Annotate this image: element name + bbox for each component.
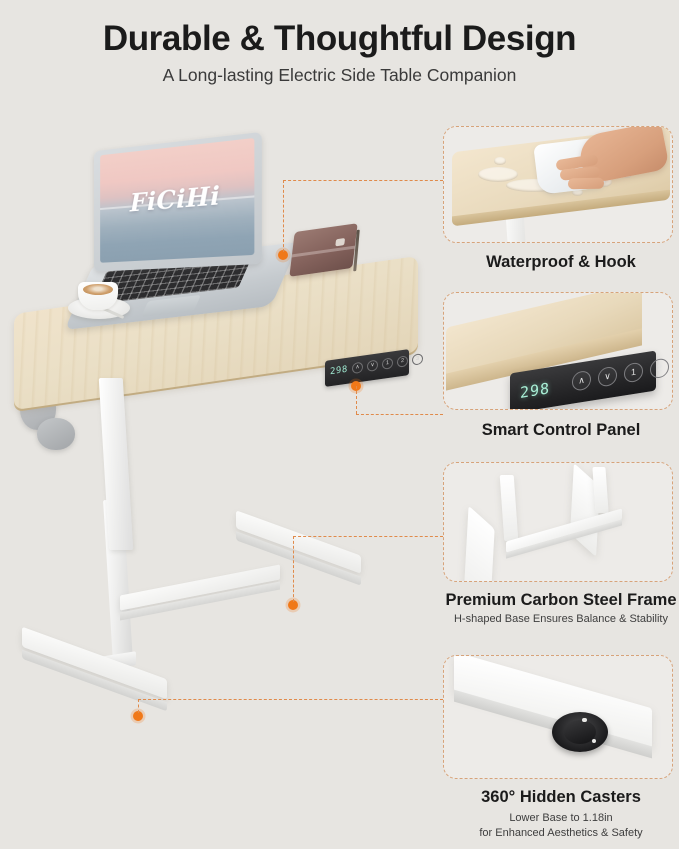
control-button-up[interactable]: ∧ [352, 362, 363, 375]
finger [568, 178, 604, 190]
casters-image-frame [443, 655, 673, 779]
callout-line-casters-horizontal [138, 699, 443, 700]
product-photo-main: FiCiHi 298 ∧ ∨ 1 2 3 [0, 120, 430, 849]
headphones-earcup-right [37, 418, 75, 450]
casters-subcaption-line1: Lower Base to 1.18in [443, 811, 679, 825]
caster-highlight [582, 718, 587, 722]
page-subtitle: A Long-lasting Electric Side Table Compa… [0, 63, 679, 87]
callout-line-control-vertical [356, 386, 357, 414]
control-button-preset-3[interactable]: 3 [412, 353, 423, 366]
control-button-down[interactable]: ∨ [598, 366, 617, 388]
callout-line-casters-vertical [138, 699, 139, 713]
feature-panel-casters: 360° Hidden Casters Lower Base to 1.18in… [443, 655, 679, 845]
caster-highlight [592, 739, 596, 743]
journal-clasp [335, 238, 345, 246]
steel-frame-image-frame [443, 462, 673, 582]
control-panel-button-row: ∧ ∨ 1 2 3 [572, 353, 673, 391]
frame-crossmember [506, 508, 622, 552]
control-panel-image-frame: 298 ∧ ∨ 1 2 3 [443, 292, 673, 410]
callout-line-control-horizontal [356, 414, 443, 415]
frame-column-stub-left [500, 475, 519, 541]
steel-frame-caption: Premium Carbon Steel Frame [443, 590, 679, 610]
frame-bar-front [463, 506, 494, 582]
control-panel-caption: Smart Control Panel [443, 420, 679, 440]
header: Durable & Thoughtful Design A Long-lasti… [0, 18, 679, 87]
feature-panel-waterproof: Waterproof & Hook [443, 126, 679, 276]
callout-line-frame-horizontal [293, 536, 443, 537]
waterproof-image-frame [443, 126, 673, 243]
control-button-preset-1[interactable]: 1 [624, 361, 643, 383]
water-droplet [494, 157, 506, 165]
control-button-up[interactable]: ∧ [572, 370, 591, 392]
control-button-preset-2[interactable]: 2 [397, 355, 408, 368]
coffee-crema [83, 284, 113, 295]
page-title: Durable & Thoughtful Design [0, 18, 679, 60]
water-droplet [478, 167, 518, 182]
control-button-preset-1[interactable]: 1 [382, 357, 393, 370]
control-button-down[interactable]: ∨ [367, 359, 378, 372]
callout-line-waterproof-vertical [283, 180, 284, 252]
infographic-canvas: Durable & Thoughtful Design A Long-lasti… [0, 0, 679, 849]
control-button-preset-2[interactable]: 2 [650, 357, 669, 379]
control-panel-buttons: ∧ ∨ 1 2 3 [352, 353, 423, 374]
laptop-lid: FiCiHi [94, 132, 262, 272]
control-panel-display-large: 298 [520, 379, 550, 402]
coffee-cup [78, 282, 118, 310]
laptop-screen-brand: FiCiHi [100, 178, 254, 220]
casters-caption: 360° Hidden Casters [443, 787, 679, 807]
casters-subcaption-line2: for Enhanced Aesthetics & Safety [443, 826, 679, 840]
steel-frame-subcaption: H-shaped Base Ensures Balance & Stabilit… [443, 612, 679, 626]
control-panel-display: 298 [330, 365, 348, 377]
laptop-screen: FiCiHi [100, 138, 254, 263]
feature-panel-steel-frame: Premium Carbon Steel Frame H-shaped Base… [443, 462, 679, 632]
callout-line-waterproof-horizontal [283, 180, 443, 181]
callout-line-frame-vertical [293, 536, 294, 602]
hidden-caster-wheel [552, 712, 608, 752]
waterproof-caption: Waterproof & Hook [443, 252, 679, 272]
frame-column-stub-right [592, 467, 608, 513]
feature-panel-control: 298 ∧ ∨ 1 2 3 Smart Control Panel [443, 292, 679, 442]
